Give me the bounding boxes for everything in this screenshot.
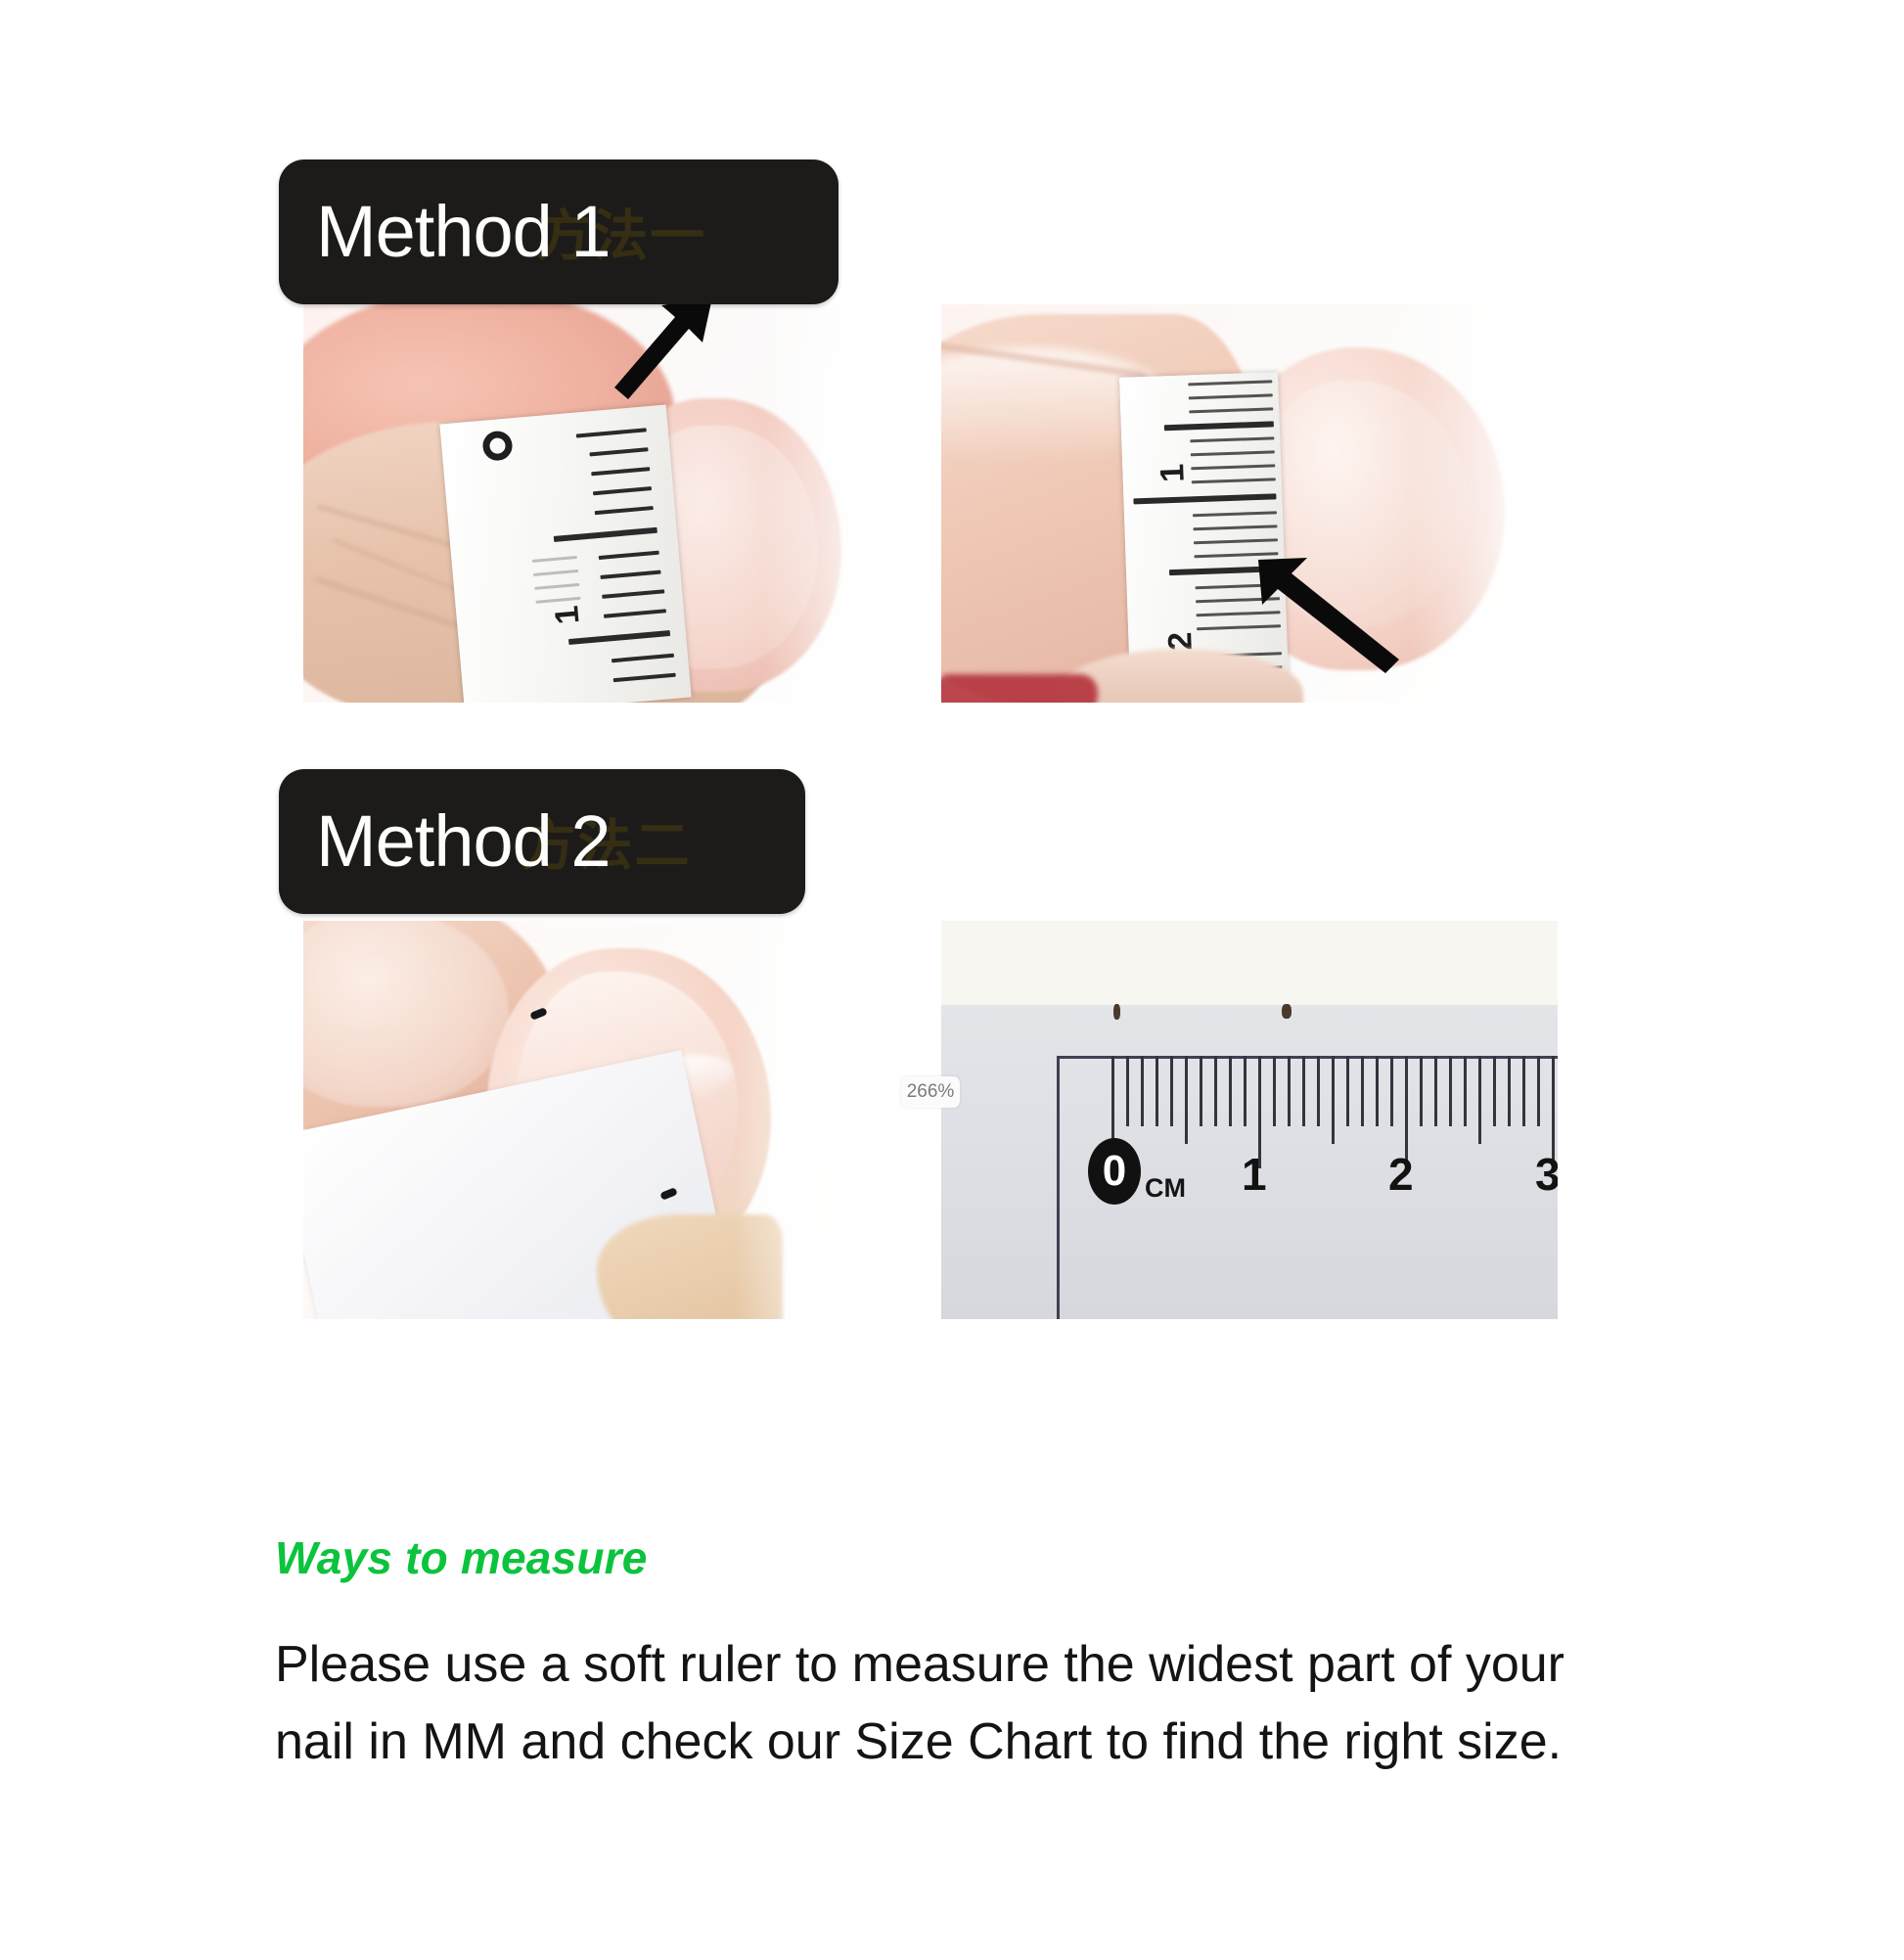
ruler-tick-minor: [1156, 1056, 1158, 1126]
ruler-tick-minor: [1390, 1056, 1393, 1126]
ruler-tick-minor: [1420, 1056, 1423, 1126]
tape-tick: [593, 486, 652, 495]
tape-tick: [589, 447, 648, 456]
ruler-tick-minor: [1288, 1056, 1291, 1126]
tape-tick-minor: [534, 583, 579, 590]
tape-tick: [554, 527, 657, 542]
tape-tick: [591, 467, 650, 476]
ruler-tick-half: [1332, 1056, 1335, 1144]
tape-tick: [1190, 436, 1274, 442]
tape-tick: [602, 589, 664, 599]
ruler-tick-minor: [1214, 1056, 1217, 1126]
method-2-label: Method 2: [316, 805, 611, 878]
ruler-photo-background: [941, 921, 1558, 1007]
tape-number-0: [481, 430, 514, 462]
tape-tick: [600, 570, 660, 579]
tape-tick: [1169, 566, 1279, 575]
tape-tick: [1189, 407, 1273, 413]
ruler-tick-minor: [1346, 1056, 1349, 1126]
ruler-tick-minor: [1141, 1056, 1144, 1126]
tape-tick: [1197, 611, 1281, 616]
method1-panel-left: 1: [303, 304, 920, 703]
tape-tick: [1188, 380, 1272, 386]
tape-tick: [599, 551, 659, 560]
measuring-guide-page: 1: [0, 0, 1904, 1960]
ruler-tick-minor: [1508, 1056, 1511, 1126]
tape-tick-minor: [532, 556, 577, 563]
ruler-tick-minor: [1434, 1056, 1437, 1126]
method-1-badge: 方法一 Method 1: [279, 160, 839, 304]
tape-tick: [1193, 524, 1277, 530]
zoom-level-indicator[interactable]: 266%: [901, 1076, 960, 1108]
ruler-tick-minor: [1273, 1056, 1276, 1126]
ruler-tick-half: [1478, 1056, 1481, 1144]
ruler-tick-minor: [1244, 1056, 1247, 1126]
ruler-unit-label: CM: [1145, 1173, 1186, 1204]
method1-panel-right: 1 2: [941, 304, 1558, 703]
tape-tick: [604, 609, 666, 618]
tape-tick: [1189, 393, 1273, 399]
tape-tick: [1191, 464, 1275, 470]
tape-tick: [1133, 493, 1276, 504]
ruler-tick-minor: [1126, 1056, 1129, 1126]
ruler-tick-minor: [1200, 1056, 1202, 1126]
ruler-tick-half: [1185, 1056, 1188, 1144]
tape-tick: [613, 673, 676, 683]
tape-tick: [576, 428, 647, 437]
ruler-tick-minor: [1464, 1056, 1467, 1126]
ruler-tick-minor: [1493, 1056, 1496, 1126]
ruler-tick-minor: [1317, 1056, 1320, 1126]
photo-highlight: [763, 304, 920, 703]
tape-tick: [1191, 450, 1275, 456]
tape-tick: [1194, 552, 1278, 558]
tape-tick-minor: [535, 597, 580, 604]
tape-tick: [1196, 583, 1280, 589]
ruler-tick-minor: [1522, 1056, 1525, 1126]
instruction-paragraph: Please use a soft ruler to measure the w…: [275, 1626, 1635, 1781]
tape-tick: [1196, 597, 1280, 603]
ruler-tick-minor: [1229, 1056, 1232, 1126]
tape-tick: [1194, 538, 1278, 544]
tape-tick: [568, 630, 670, 645]
ruler-tick-minor: [1361, 1056, 1364, 1126]
ruler-number-1: 1: [1242, 1148, 1267, 1201]
tape-tick: [612, 654, 674, 663]
tape-tick-minor: [533, 570, 578, 576]
tape-tick: [1164, 421, 1274, 431]
ruler-tick-minor: [1376, 1056, 1379, 1126]
tape-tick: [1192, 478, 1276, 483]
method-1-label: Method 1: [316, 196, 611, 268]
tape-number-1: 1: [1154, 463, 1193, 482]
measuring-tape: 1: [439, 404, 691, 703]
surface-speck: [1113, 1004, 1120, 1020]
tape-tick: [1193, 511, 1277, 517]
ruler-tick-minor: [1302, 1056, 1305, 1126]
red-accent: [941, 674, 1098, 703]
ruler-number-2: 2: [1388, 1148, 1414, 1201]
photo-highlight: [1411, 304, 1558, 703]
ruler-left-edge: [1057, 1056, 1060, 1319]
ruler-number-3: 3: [1535, 1148, 1558, 1201]
tape-tick: [595, 506, 654, 515]
tape-tick: [1197, 624, 1281, 630]
method2-panel-right: 0 CM 1 2 3: [941, 921, 1558, 1319]
method-2-badge: 方法二 Method 2: [279, 769, 805, 914]
photo-highlight: [734, 921, 920, 1319]
ruler-zero-marker: 0: [1088, 1138, 1141, 1205]
ruler-tick-minor: [1537, 1056, 1540, 1126]
tape-number-1: 1: [548, 604, 588, 625]
ruler-tick-minor: [1170, 1056, 1173, 1126]
surface-speck: [1282, 1004, 1292, 1019]
ruler-tick-minor: [1449, 1056, 1452, 1126]
ruler-top-edge: [1057, 1056, 1558, 1059]
section-heading: Ways to measure: [275, 1531, 648, 1584]
method2-panel-left: [303, 921, 920, 1319]
